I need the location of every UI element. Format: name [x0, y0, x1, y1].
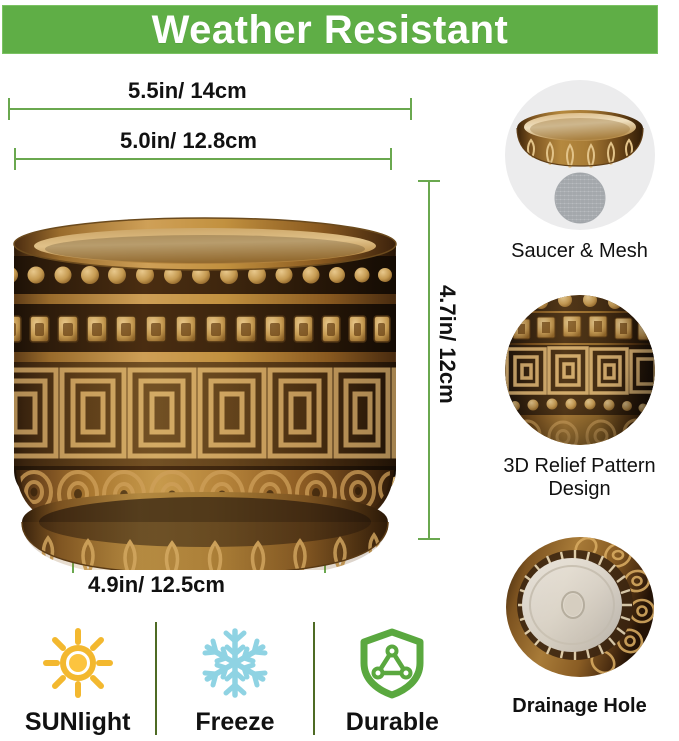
- thumbnail-drainage-hole: Drainage Hole: [480, 535, 679, 718]
- dimension-cap-bottom: [418, 538, 440, 540]
- feature-freeze: Freeze: [157, 604, 312, 741]
- sun-icon: [42, 626, 114, 700]
- thumbnail-label: Saucer & Mesh: [480, 240, 679, 263]
- thumbnail-relief-pattern: 3D Relief Pattern Design: [480, 295, 679, 501]
- thumbnail-label: 3D Relief Pattern: [480, 455, 679, 478]
- dimension-label-height: 4.7in/ 12cm: [434, 285, 460, 404]
- shield-icon: [356, 626, 428, 700]
- dimension-rule: [8, 108, 412, 110]
- feature-label: Durable: [346, 710, 439, 735]
- dimension-cap-right: [390, 148, 392, 170]
- header-banner: Weather Resistant: [2, 5, 658, 54]
- thumbnail-label-line2: Design: [480, 478, 679, 501]
- dimension-cap-right: [410, 98, 412, 120]
- feature-label: Freeze: [195, 710, 274, 735]
- page-title: Weather Resistant: [152, 10, 509, 50]
- feature-badges-row: SUNlight: [0, 604, 470, 741]
- thumbnail-saucer-mesh: Saucer & Mesh: [480, 80, 679, 263]
- dimension-label-top-inner: 5.0in/ 12.8cm: [120, 128, 257, 154]
- drainage-hole-thumbnail: [500, 535, 660, 685]
- product-dimension-diagram: 5.5in/ 14cm 5.0in/ 12.8cm 4.7in/ 12cm 4.…: [0, 60, 470, 600]
- feature-thumbnails-column: Saucer & Mesh: [480, 80, 679, 741]
- dimension-line-top-outer: [8, 102, 412, 116]
- dimension-label-top-outer: 5.5in/ 14cm: [128, 78, 247, 104]
- dimension-rule: [14, 158, 392, 160]
- feature-sunlight: SUNlight: [0, 604, 155, 741]
- dimension-rule: [428, 180, 430, 540]
- saucer-mesh-thumbnail: [505, 80, 655, 230]
- plant-pot-image: [0, 170, 410, 570]
- relief-pattern-thumbnail: [505, 295, 655, 445]
- dimension-line-top-inner: [14, 152, 392, 166]
- thumbnail-label: Drainage Hole: [480, 695, 679, 718]
- snowflake-icon: [199, 626, 271, 700]
- dimension-label-base: 4.9in/ 12.5cm: [88, 572, 225, 598]
- feature-label: SUNlight: [25, 710, 131, 735]
- feature-durable: Durable: [315, 604, 470, 741]
